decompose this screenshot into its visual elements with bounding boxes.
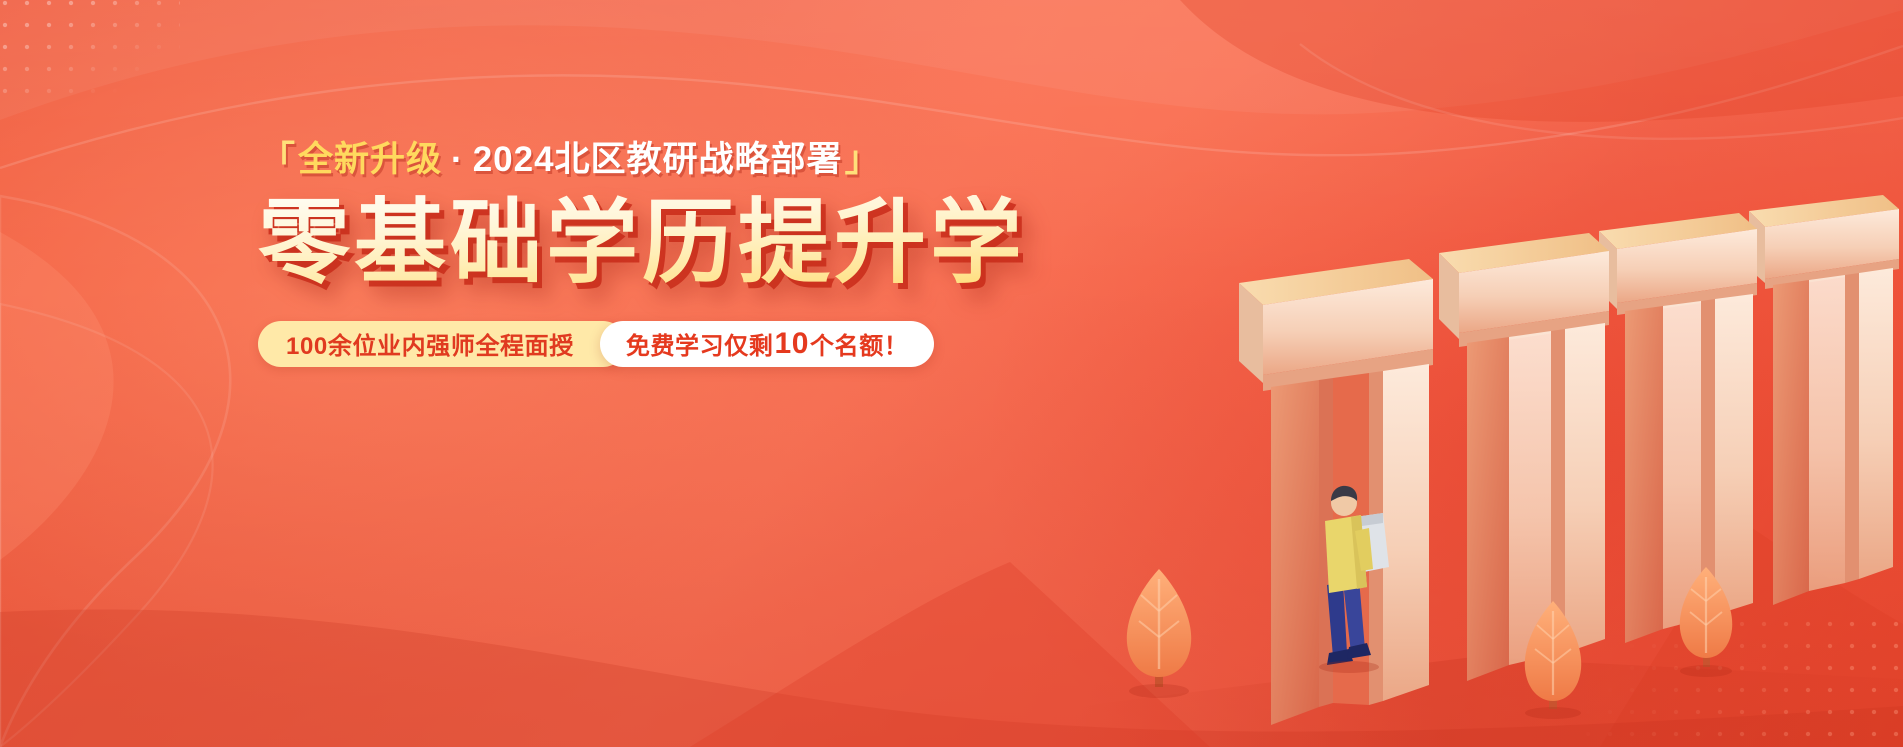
promo-banner: 「全新升级·2024北区教研战略部署」 零基础学历提升学霸班 100余位业内强师…: [0, 0, 1903, 747]
badge-quota: 免费学习仅剩10个名额！: [600, 321, 935, 367]
subtitle-highlight: 全新升级: [298, 140, 442, 179]
tree-left: [1127, 569, 1191, 698]
subtitle-separator-icon: ·: [451, 140, 464, 179]
copy-block: 「全新升级·2024北区教研战略部署」 零基础学历提升学霸班 100余位业内强师…: [258, 142, 1018, 367]
badge-quota-count: 10: [774, 327, 809, 361]
bracket-open-icon: 「: [260, 140, 296, 179]
dot-grid-top-left: [0, 0, 180, 96]
banner-subtitle: 「全新升级·2024北区教研战略部署」: [258, 142, 1018, 177]
book-arch-2: [1439, 233, 1609, 681]
badge-row: 100余位业内强师全程面授 免费学习仅剩10个名额！: [258, 321, 1018, 367]
subtitle-main: 2024北区教研战略部署: [473, 140, 843, 179]
badge-quota-suffix: 个名额！: [810, 326, 908, 361]
badge-teachers: 100余位业内强师全程面授: [258, 321, 626, 367]
banner-headline: 零基础学历提升学霸班: [258, 195, 1018, 293]
badge-quota-prefix: 免费学习仅剩: [626, 326, 774, 361]
book-arch-4: [1749, 195, 1899, 605]
book-arch-3: [1599, 213, 1757, 643]
bracket-close-icon: 」: [845, 140, 881, 179]
